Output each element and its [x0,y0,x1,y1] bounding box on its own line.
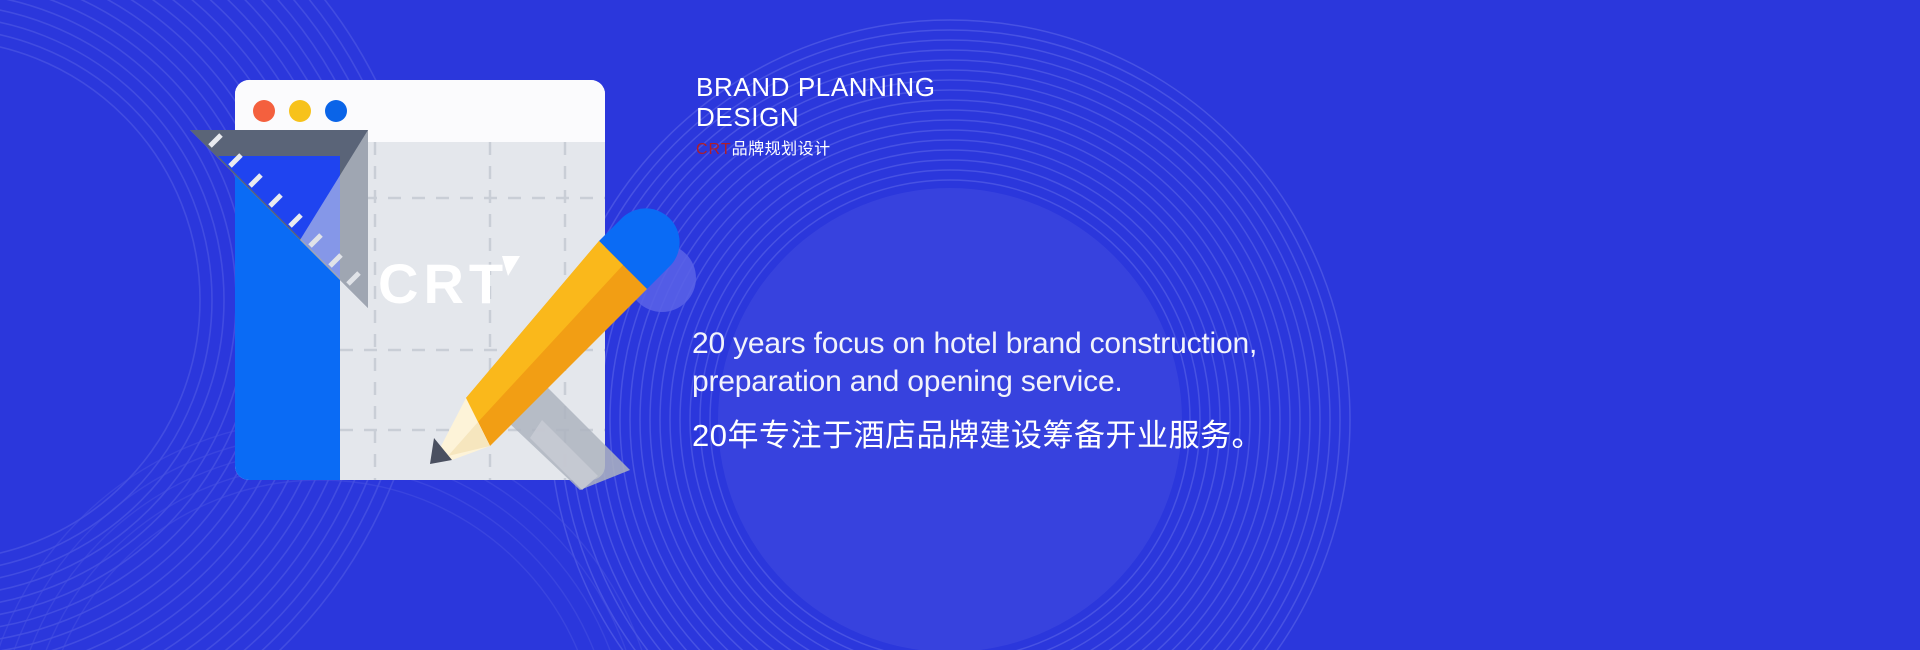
tagline-block: 20 years focus on hotel brand constructi… [692,325,1472,455]
crt-logo-mark: CRT [378,252,520,315]
brand-planning-banner: CRT [0,0,1920,650]
headline-block: BRAND PLANNING DESIGN CRT品牌规划设计 [696,72,1336,161]
tagline-english: 20 years focus on hotel brand constructi… [692,325,1472,402]
hero-illustration: CRT [190,60,710,590]
subhead-text: CRT品牌规划设计 [696,139,1336,161]
crt-logo-text: CRT [378,252,508,315]
subhead-chinese: 品牌规划设计 [732,141,831,158]
traffic-light-blue-icon[interactable] [325,100,347,122]
tagline-chinese: 20年专注于酒店品牌建设筹备开业服务。 [692,416,1472,456]
subhead-brand: CRT [696,141,732,158]
traffic-light-yellow-icon[interactable] [289,100,311,122]
traffic-light-red-icon[interactable] [253,100,275,122]
headline-text: BRAND PLANNING DESIGN [696,72,1336,133]
